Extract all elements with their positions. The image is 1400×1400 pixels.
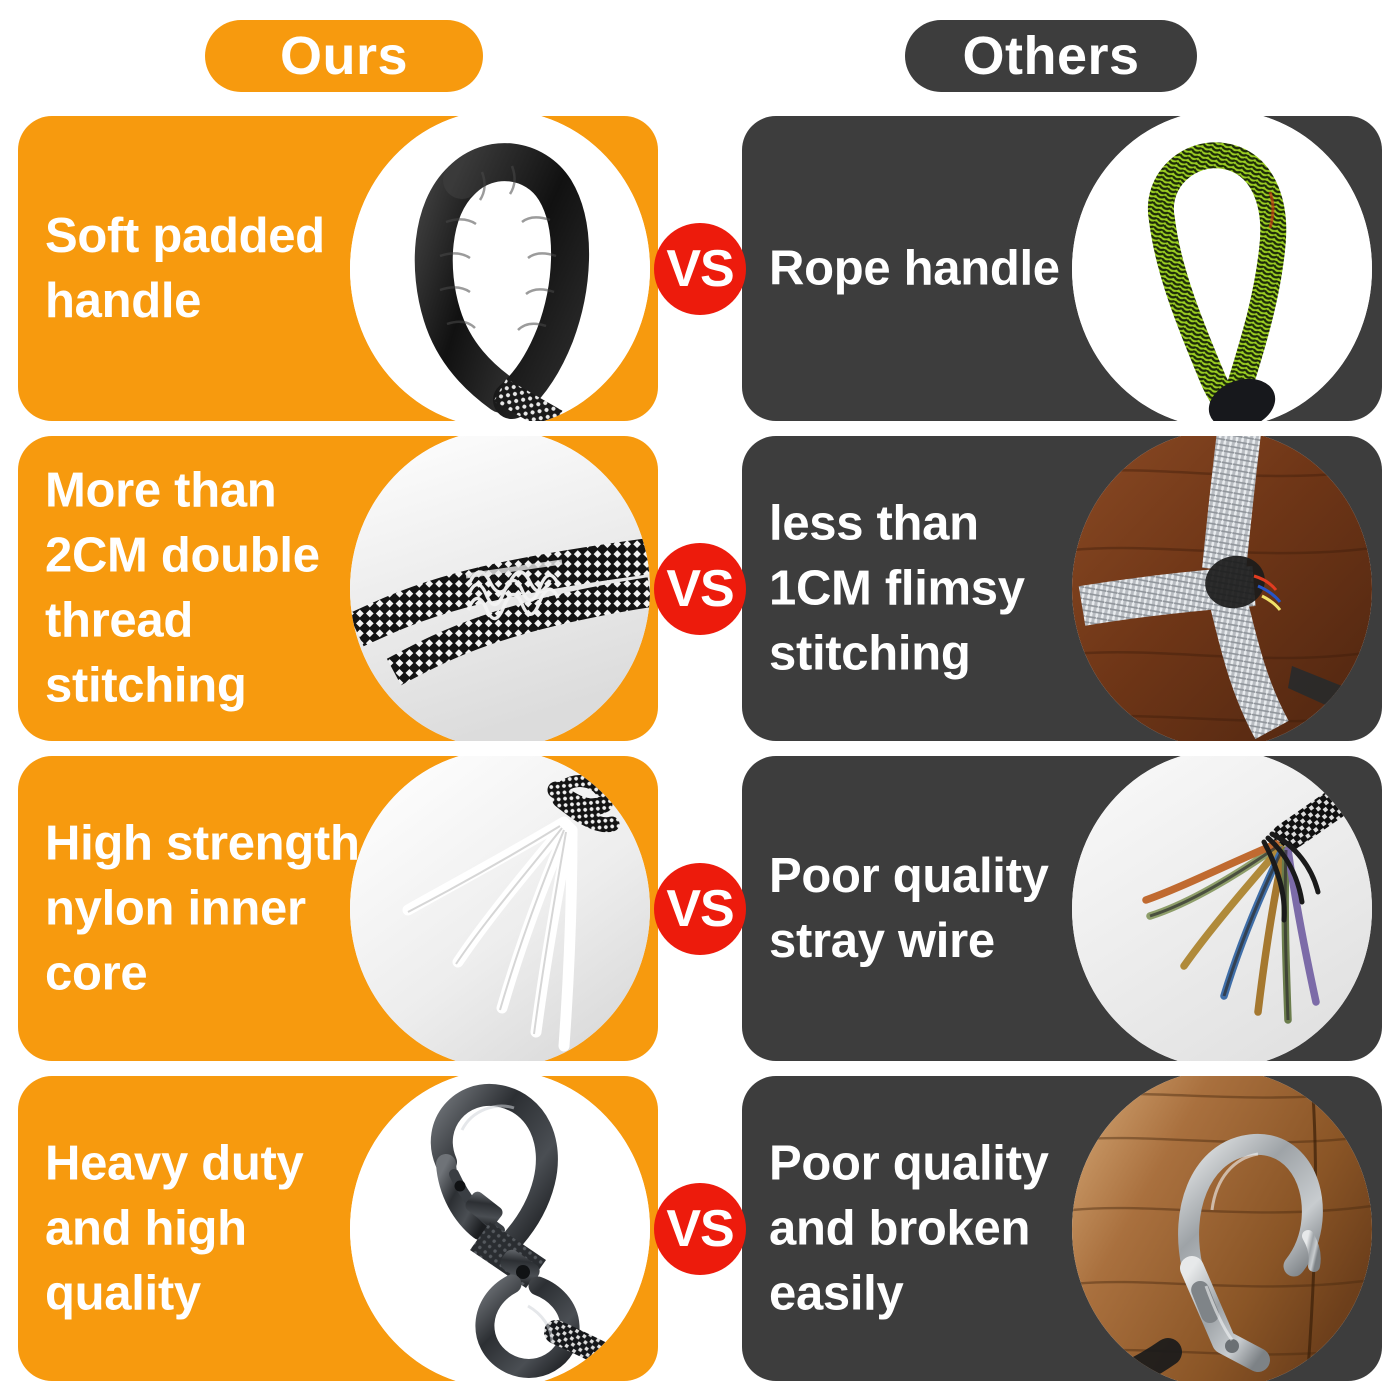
padded-handle-photo: [350, 116, 650, 421]
others-feature-text-3: Poor quality stray wire: [769, 843, 1114, 973]
vs-label-4: VS: [666, 1203, 733, 1255]
nylon-core-photo: [350, 756, 650, 1061]
ours-feature-text-4: Heavy duty and high quality: [45, 1131, 390, 1326]
ours-card-3: High strength nylon inner core: [18, 756, 658, 1061]
comparison-infographic: Ours Others Soft padded handle: [0, 0, 1400, 1400]
stray-wire-photo: [1072, 756, 1372, 1061]
ours-feature-text-3: High strength nylon inner core: [45, 811, 390, 1006]
comparison-row-3: High strength nylon inner core: [0, 756, 1400, 1061]
others-card-3: Poor quality stray wire: [742, 756, 1382, 1061]
others-feature-text-4: Poor quality and broken easily: [769, 1131, 1114, 1326]
vs-badge-1: VS: [654, 223, 746, 315]
ours-feature-text-2: More than 2CM double thread stitching: [45, 458, 390, 719]
vs-badge-3: VS: [654, 863, 746, 955]
others-feature-text-1: Rope handle: [769, 236, 1114, 301]
vs-label-1: VS: [666, 243, 733, 295]
others-card-1: Rope handle: [742, 116, 1382, 421]
vs-badge-4: VS: [654, 1183, 746, 1275]
rope-handle-photo: [1072, 116, 1372, 421]
comparison-row-4: Heavy duty and high quality: [0, 1076, 1400, 1381]
vs-label-3: VS: [666, 883, 733, 935]
ours-card-1: Soft padded handle: [18, 116, 658, 421]
header-label-others: Others: [962, 29, 1139, 83]
others-card-2: less than 1CM flimsy stitching: [742, 436, 1382, 741]
double-stitching-photo: [350, 436, 650, 741]
comparison-row-1: Soft padded handle: [0, 116, 1400, 421]
ours-feature-text-1: Soft padded handle: [45, 203, 390, 333]
flimsy-stitching-photo: [1072, 436, 1372, 741]
header-pill-others: Others: [905, 20, 1197, 92]
header-label-ours: Ours: [280, 29, 408, 83]
comparison-row-2: More than 2CM double thread stitching: [0, 436, 1400, 741]
ours-card-4: Heavy duty and high quality: [18, 1076, 658, 1381]
vs-label-2: VS: [666, 563, 733, 615]
vs-badge-2: VS: [654, 543, 746, 635]
ours-card-2: More than 2CM double thread stitching: [18, 436, 658, 741]
heavy-duty-clasp-photo: [350, 1076, 650, 1381]
others-card-4: Poor quality and broken easily: [742, 1076, 1382, 1381]
header-pill-ours: Ours: [205, 20, 483, 92]
header-row: Ours Others: [0, 0, 1400, 110]
broken-clasp-photo: [1072, 1076, 1372, 1381]
others-feature-text-2: less than 1CM flimsy stitching: [769, 491, 1114, 686]
